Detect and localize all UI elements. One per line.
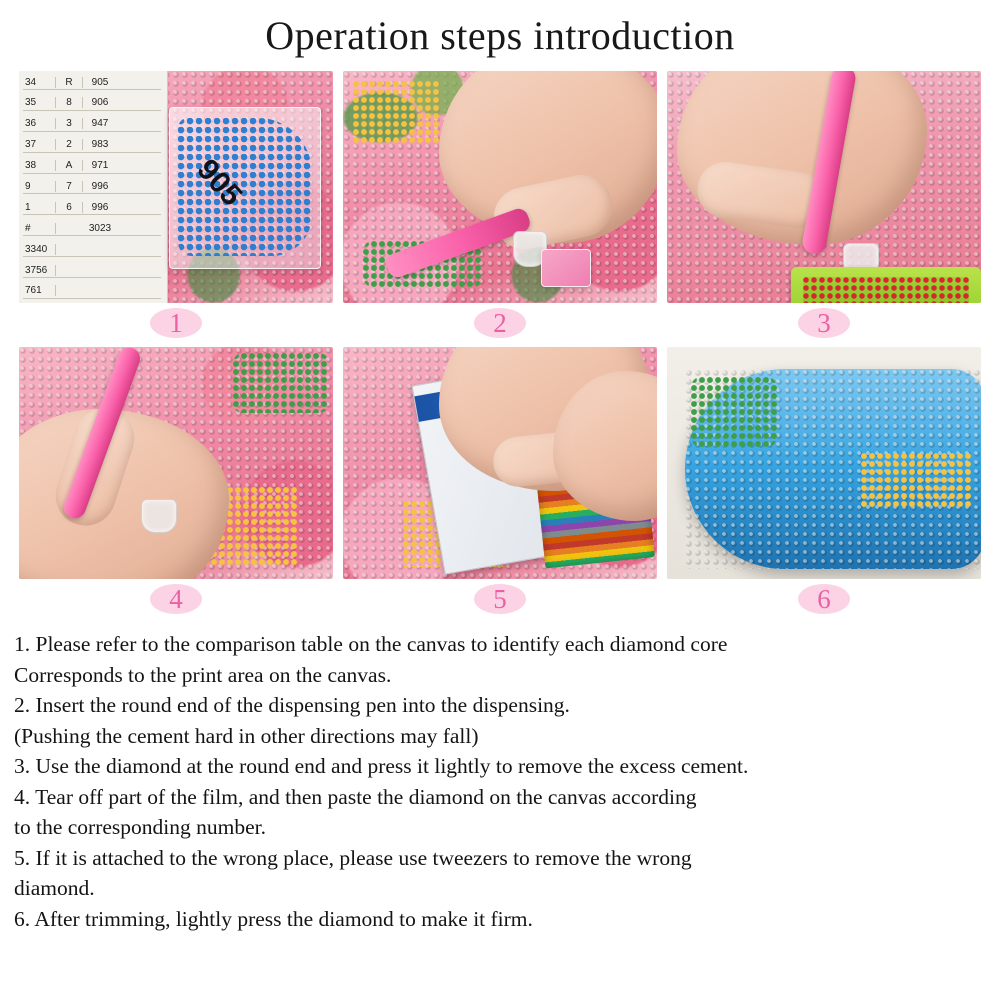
color-comparison-chart: 34R905 358906 363947 372983 38A971 97996… (19, 71, 168, 303)
instruction-line: 2. Insert the round end of the dispensin… (14, 690, 986, 721)
table-row: 372983 (23, 138, 161, 153)
table-row: 34R905 (23, 75, 161, 90)
chart-rows: 34R905 358906 363947 372983 38A971 97996… (23, 75, 161, 299)
chart-symbol: 8 (56, 97, 83, 108)
chart-symbol: 6 (56, 202, 83, 213)
yellow-bead-patch (861, 453, 971, 507)
pen-round-end (141, 499, 177, 533)
table-row: 363947 (23, 117, 161, 132)
chart-code: 3756 (23, 265, 56, 276)
step3-press-pen-on-tray-of-diamonds (667, 71, 981, 303)
instruction-line: 3. Use the diamond at the round end and … (14, 751, 986, 782)
chart-number: 971 (83, 160, 117, 171)
chart-number: 996 (83, 202, 117, 213)
step1-color-chart-and-bead-bag: 34R905 358906 363947 372983 38A971 97996… (19, 71, 333, 303)
chart-code: 36 (23, 118, 56, 129)
instruction-line: 1. Please refer to the comparison table … (14, 629, 986, 660)
page-title: Operation steps introduction (0, 0, 1000, 59)
chart-symbol: R (56, 77, 83, 88)
tray-inner (803, 277, 969, 303)
table-row: 97996 (23, 179, 161, 194)
rolled-canvas (685, 369, 981, 569)
instruction-line: to the corresponding number. (14, 812, 986, 843)
chart-number: 947 (83, 118, 117, 129)
chart-code: # (23, 223, 56, 234)
instruction-line: diamond. (14, 873, 986, 904)
step-cell-4: 4 (19, 347, 333, 623)
step-badge-4: 4 (150, 584, 202, 614)
step-cell-2: 2 (343, 71, 657, 347)
chart-number: 3023 (83, 223, 117, 234)
table-row: 16996 (23, 200, 161, 215)
chart-symbol: 3 (56, 118, 83, 129)
step6-finished-rolled-canvas (667, 347, 981, 579)
chart-number: 996 (83, 181, 117, 192)
step5-dmc-thread-color-card: DMC (343, 347, 657, 579)
table-row: 358906 (23, 96, 161, 111)
table-row: 38A971 (23, 159, 161, 174)
step-badge-3: 3 (798, 308, 850, 338)
green-bead-patch (691, 377, 777, 447)
step4-place-diamond-on-canvas (19, 347, 333, 579)
step-cell-3: 3 (667, 71, 981, 347)
steps-grid: 34R905 358906 363947 372983 38A971 97996… (19, 71, 981, 623)
chart-code: 34 (23, 77, 56, 88)
table-row: #3023 (23, 221, 161, 236)
chart-number: 983 (83, 139, 117, 150)
instruction-line: 6. After trimming, lightly press the dia… (14, 904, 986, 935)
chart-code: 761 (23, 285, 56, 296)
step-cell-5: DMC 5 (343, 347, 657, 623)
chart-symbol: 2 (56, 139, 83, 150)
table-row: 3756 (23, 263, 161, 278)
chart-code: 1 (23, 202, 56, 213)
table-row: 3340 (23, 242, 161, 257)
instruction-line: (Pushing the cement hard in other direct… (14, 721, 986, 752)
chart-code: 9 (23, 181, 56, 192)
cement-square (541, 249, 591, 287)
step2-insert-round-end-into-dispensing-gel (343, 71, 657, 303)
instructions-block: 1. Please refer to the comparison table … (14, 629, 986, 934)
instruction-line: 5. If it is attached to the wrong place,… (14, 843, 986, 874)
step-badge-2: 2 (474, 308, 526, 338)
instruction-line: 4. Tear off part of the film, and then p… (14, 782, 986, 813)
step-badge-5: 5 (474, 584, 526, 614)
chart-code: 37 (23, 139, 56, 150)
chart-number: 905 (83, 77, 117, 88)
diamond-tray (791, 267, 981, 303)
bead-bag: 905 (169, 107, 321, 269)
chart-code: 3340 (23, 244, 56, 255)
table-row: 761 (23, 284, 161, 299)
instruction-line: Corresponds to the print area on the can… (14, 660, 986, 691)
chart-number: 906 (83, 97, 117, 108)
chart-symbol: 7 (56, 181, 83, 192)
chart-code: 35 (23, 97, 56, 108)
green-bead-patch (233, 353, 329, 413)
step-cell-1: 34R905 358906 363947 372983 38A971 97996… (19, 71, 333, 347)
chart-symbol: A (56, 160, 83, 171)
step-badge-1: 1 (150, 308, 202, 338)
instruction-sheet: Operation steps introduction 34R905 3589… (0, 0, 1000, 1000)
yellow-bead-patch (353, 81, 439, 143)
chart-code: 38 (23, 160, 56, 171)
step-cell-6: 6 (667, 347, 981, 623)
red-diamond-beads (803, 277, 969, 303)
step-badge-6: 6 (798, 584, 850, 614)
